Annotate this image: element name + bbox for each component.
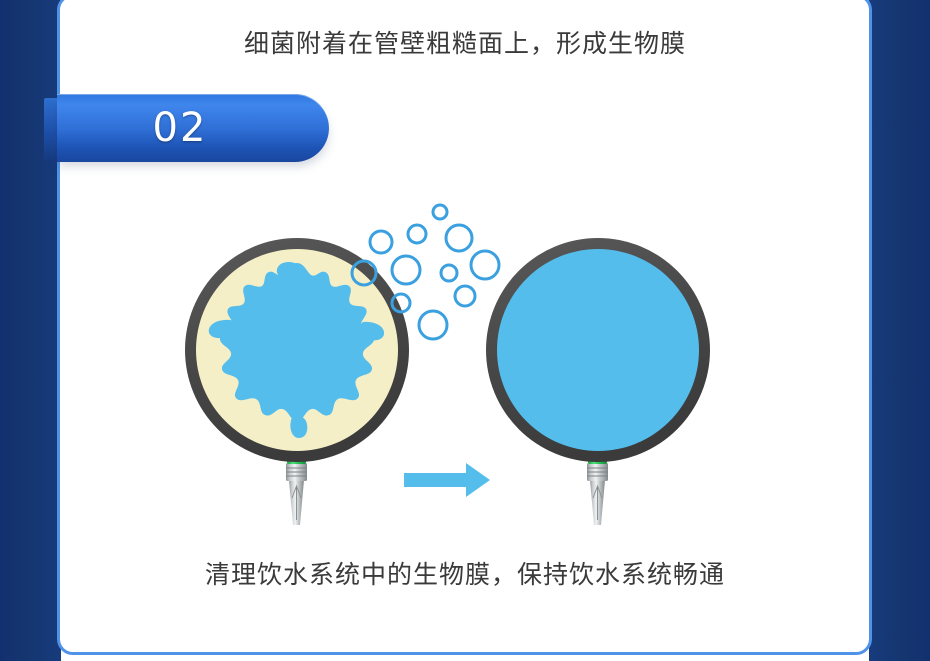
step-badge-number: 02 [44,94,316,162]
bubble-icon [446,225,472,251]
dirty-pipe-cross-section [185,238,409,525]
clean-water-right [497,249,699,451]
bubble-icon [408,225,426,243]
bubble-icon [433,205,447,219]
clean-pipe-cross-section [486,238,710,525]
step-badge: 02 [44,94,329,164]
bubble-icon [370,231,392,253]
right-navy-bar [869,0,930,661]
bubble-icon [419,311,447,339]
water-blob-detail3-left [290,416,307,438]
page-caption: 清理饮水系统中的生物膜，保持饮水系统畅通 [61,558,869,592]
transition-arrow [404,463,490,497]
slide-canvas: 细菌附着在管壁粗糙面上，形成生物膜 02 [0,0,930,661]
pipe-comparison-diagram [61,180,869,540]
illustration-area [61,180,869,540]
bubble-icon [471,251,499,279]
pipe-stem-left [286,453,307,525]
bubble-icon [392,256,420,284]
bubble-icon [441,265,457,281]
bubble-icon [455,286,475,306]
arrow-shape [404,463,490,497]
page-title: 细菌附着在管壁粗糙面上，形成生物膜 [61,27,869,61]
pipe-stem-right [587,453,608,525]
